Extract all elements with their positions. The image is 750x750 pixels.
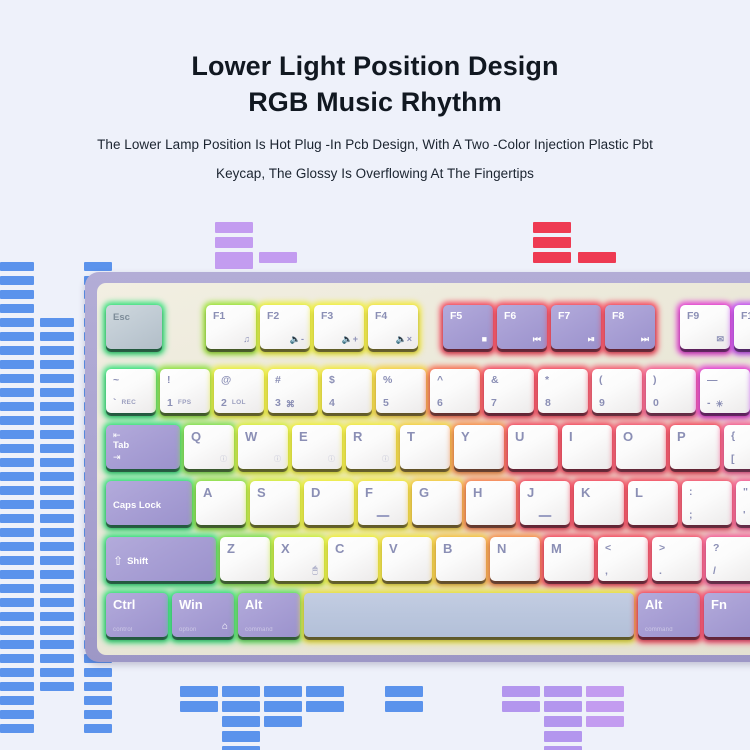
shift-arrow-icon: ⇧ xyxy=(113,554,123,568)
key-legend: Esc xyxy=(113,312,156,323)
key-glow: H xyxy=(466,481,516,525)
eq-segment xyxy=(40,472,74,481)
key-secondary-icon: ⓘ xyxy=(220,456,227,464)
eq-segment xyxy=(0,486,34,495)
eq-segment xyxy=(0,682,34,691)
key-legend-top: * xyxy=(545,374,582,386)
eq-segment xyxy=(40,626,74,635)
key-legend-bottom: 2LOL xyxy=(221,397,258,409)
key-legend: J xyxy=(527,486,564,500)
key-legend: I xyxy=(569,430,606,444)
key-legend: R xyxy=(353,430,390,444)
key-1[interactable]: !1FPS xyxy=(160,369,210,413)
key-glow: "' xyxy=(736,481,750,525)
key-legend-top: : xyxy=(689,486,726,498)
key-legend-bottom: 7 xyxy=(491,397,528,409)
key-win[interactable]: Win⌂option xyxy=(172,593,234,637)
eq-segment xyxy=(0,710,34,719)
key-legend-top: ! xyxy=(167,374,204,386)
key-glow: F4🔈× xyxy=(368,305,418,349)
key-w[interactable]: Wⓘ xyxy=(238,425,288,469)
windows-icon: ⌂ xyxy=(222,622,228,632)
key-legend: X xyxy=(281,542,318,556)
eq-segment xyxy=(40,612,74,621)
key-glow: —-☀ xyxy=(700,369,750,413)
eq-segment xyxy=(40,682,74,691)
key-legend-top: # xyxy=(275,374,312,386)
key-[interactable]: <, xyxy=(598,537,648,581)
eq-bottom-blue-2 xyxy=(222,686,260,750)
key-e[interactable]: Eⓘ xyxy=(292,425,342,469)
key-5[interactable]: %5 xyxy=(376,369,426,413)
key-glow: Qⓘ xyxy=(184,425,234,469)
eq-segment xyxy=(259,252,297,263)
eq-top-red-1 xyxy=(533,222,571,263)
key-glow: Wⓘ xyxy=(238,425,288,469)
key-glow: Altcommand xyxy=(638,593,700,637)
key-caps-lock[interactable]: Caps Lock xyxy=(106,481,192,525)
eq-segment xyxy=(40,332,74,341)
key-legend-top: ~ xyxy=(113,374,150,386)
eq-segment xyxy=(222,746,260,750)
key-legend-bottom: 0 xyxy=(653,397,690,409)
eq-segment xyxy=(40,416,74,425)
key-legend-top: F2 xyxy=(267,310,304,322)
eq-segment xyxy=(40,458,74,467)
key-glow: F9✉ xyxy=(680,305,730,349)
music-note-icon: ♫ xyxy=(213,333,250,345)
eq-segment xyxy=(0,430,34,439)
key-legend-bottom: 5 xyxy=(383,397,420,409)
subtitle-line-1: The Lower Lamp Position Is Hot Plug -In … xyxy=(0,130,750,159)
key-[interactable]: >. xyxy=(652,537,702,581)
key-sub-legend: REC xyxy=(122,397,137,409)
eq-segment xyxy=(0,276,34,285)
stop-icon: ■ xyxy=(450,333,487,345)
key-shift[interactable]: ⇧Shift xyxy=(106,537,216,581)
key-glow: %5 xyxy=(376,369,426,413)
eq-segment xyxy=(0,374,34,383)
eq-segment xyxy=(222,701,260,712)
key-legend: Q xyxy=(191,430,228,444)
key-r[interactable]: Rⓘ xyxy=(346,425,396,469)
key-legend-top: F3 xyxy=(321,310,358,322)
volume-up-icon: 🔈+ xyxy=(321,333,358,345)
subtitle-line-2: Keycap, The Glossy Is Overflowing At The… xyxy=(0,159,750,188)
key-b[interactable]: B xyxy=(436,537,486,581)
eq-segment xyxy=(0,640,34,649)
eq-segment xyxy=(0,598,34,607)
eq-top-purple-2 xyxy=(215,222,253,263)
eq-segment xyxy=(222,686,260,697)
key-alt[interactable]: Altcommand xyxy=(638,593,700,637)
key-j[interactable]: J xyxy=(520,481,570,525)
eq-segment xyxy=(180,686,218,697)
key-glow: ?/ xyxy=(706,537,750,581)
key-[interactable]: {[ xyxy=(724,425,750,469)
homing-bar xyxy=(377,515,390,517)
key-glow: Altcommand xyxy=(238,593,300,637)
page-title-line-1: Lower Light Position Design xyxy=(0,48,750,84)
subtitle: The Lower Lamp Position Is Hot Plug -In … xyxy=(0,130,750,188)
key-legend: F xyxy=(365,486,402,500)
key-glow: Esc xyxy=(106,305,162,349)
key-legend: E xyxy=(299,430,336,444)
eq-segment xyxy=(215,237,253,248)
eq-segment xyxy=(222,716,260,727)
key-n[interactable]: N xyxy=(490,537,540,581)
key-alt-legend: option xyxy=(179,627,197,633)
key-glow: F3🔈+ xyxy=(314,305,364,349)
volume-mute-icon: 🔈× xyxy=(375,333,412,345)
eq-bottom-blue-5 xyxy=(385,686,423,712)
key-legend-top: " xyxy=(743,486,750,498)
key-legend-bottom: , xyxy=(605,565,642,577)
eq-segment xyxy=(0,626,34,635)
eq-segment xyxy=(0,612,34,621)
eq-segment xyxy=(306,701,344,712)
key-ctrl[interactable]: Ctrlcontrol xyxy=(106,593,168,637)
key-legend-top: F6 xyxy=(504,310,541,322)
key-i[interactable]: I xyxy=(562,425,612,469)
key-f8[interactable]: F8⏭ xyxy=(605,305,655,349)
eq-segment xyxy=(40,374,74,383)
keyboard-row-shift-row: ⇧ShiftZX🖰CVBNM<,>.?/Shift xyxy=(106,537,750,581)
key-glow: L xyxy=(628,481,678,525)
key-fn[interactable]: Fn xyxy=(704,593,750,637)
key-7[interactable]: &7 xyxy=(484,369,534,413)
key-legend-top: ) xyxy=(653,374,690,386)
page-title-line-2: RGB Music Rhythm xyxy=(0,84,750,120)
homing-bar xyxy=(539,515,552,517)
key-legend-bottom: 3⌘ xyxy=(275,397,312,409)
key-m[interactable]: M xyxy=(544,537,594,581)
key-k[interactable]: K xyxy=(574,481,624,525)
key-h[interactable]: H xyxy=(466,481,516,525)
key-glow: (9 xyxy=(592,369,642,413)
key-c[interactable]: C xyxy=(328,537,378,581)
eq-segment xyxy=(40,584,74,593)
key-glow: D xyxy=(304,481,354,525)
key-legend-top: $ xyxy=(329,374,366,386)
key-v[interactable]: V xyxy=(382,537,432,581)
key-f7[interactable]: F7⏯ xyxy=(551,305,601,349)
key-[interactable]: ?/ xyxy=(706,537,750,581)
key-legend: T xyxy=(407,430,444,444)
key-legend-bottom: 4 xyxy=(329,397,366,409)
key-legend: Y xyxy=(461,430,498,444)
key-legend-bottom: 8 xyxy=(545,397,582,409)
key-legend-top: { xyxy=(731,430,750,442)
eq-segment xyxy=(0,290,34,299)
key-y[interactable]: Y xyxy=(454,425,504,469)
key-[interactable]: :; xyxy=(682,481,732,525)
eq-segment xyxy=(222,731,260,742)
eq-segment xyxy=(502,701,540,712)
key-glow: F1♫ xyxy=(206,305,256,349)
key-s[interactable]: S xyxy=(250,481,300,525)
key-tab[interactable]: ⇤Tab⇥ xyxy=(106,425,180,469)
key-x[interactable]: X🖰 xyxy=(274,537,324,581)
eq-top-red-2 xyxy=(578,252,616,263)
key-legend: N xyxy=(497,542,534,556)
eq-segment xyxy=(533,252,571,263)
key-4[interactable]: $4 xyxy=(322,369,372,413)
key-legend: C xyxy=(335,542,372,556)
key-glow: C xyxy=(328,537,378,581)
mouse-icon: 🖰 xyxy=(312,566,318,576)
key-legend: Ctrl xyxy=(113,598,162,612)
calculator-icon: ⌨ xyxy=(741,333,750,345)
key-[interactable]: —-☀ xyxy=(700,369,750,413)
eq-segment xyxy=(0,472,34,481)
key-q[interactable]: Qⓘ xyxy=(184,425,234,469)
key-legend: U xyxy=(515,430,552,444)
key-legend: B xyxy=(443,542,480,556)
key-glow: F6⏮ xyxy=(497,305,547,349)
tab-left-arrow-icon: ⇤ xyxy=(113,430,174,440)
key-t[interactable]: T xyxy=(400,425,450,469)
eq-segment xyxy=(84,262,112,271)
eq-segment xyxy=(0,444,34,453)
key-glow: N xyxy=(490,537,540,581)
key-9[interactable]: (9 xyxy=(592,369,642,413)
key-legend-top: F10 xyxy=(741,310,750,322)
key-glow: !1FPS xyxy=(160,369,210,413)
key-legend: Caps Lock xyxy=(113,500,186,511)
key-legend: M xyxy=(551,542,588,556)
eq-segment xyxy=(0,416,34,425)
eq-segment xyxy=(0,318,34,327)
eq-bottom-purple-1 xyxy=(502,686,540,712)
key-secondary-icon: ⓘ xyxy=(328,456,335,464)
eq-segment xyxy=(0,668,34,677)
key-glow: Win⌂option xyxy=(172,593,234,637)
key-0[interactable]: )0 xyxy=(646,369,696,413)
eq-segment xyxy=(40,444,74,453)
key-legend: P xyxy=(677,430,714,444)
eq-segment xyxy=(40,570,74,579)
key-z[interactable]: Z xyxy=(220,537,270,581)
key-glow: ~`REC xyxy=(106,369,156,413)
key-alt-legend: command xyxy=(245,627,273,633)
key-[interactable]: "' xyxy=(736,481,750,525)
key-f9[interactable]: F9✉ xyxy=(680,305,730,349)
key-glow: G xyxy=(412,481,462,525)
eq-segment xyxy=(84,682,112,691)
key-glow: F7⏯ xyxy=(551,305,601,349)
key-3[interactable]: #3⌘ xyxy=(268,369,318,413)
key-f[interactable]: F xyxy=(358,481,408,525)
key-legend-top: F9 xyxy=(687,310,724,322)
row-spacer xyxy=(422,305,439,349)
eq-segment xyxy=(40,402,74,411)
next-track-icon: ⏭ xyxy=(612,333,649,345)
eq-segment xyxy=(0,458,34,467)
key-glow: B xyxy=(436,537,486,581)
key-glow: Fn xyxy=(704,593,750,637)
key-legend: D xyxy=(311,486,348,500)
eq-segment xyxy=(180,701,218,712)
eq-segment xyxy=(0,402,34,411)
eq-bottom-purple-2 xyxy=(544,686,582,750)
key-u[interactable]: U xyxy=(508,425,558,469)
keyboard-row-number-row: ~`REC!1FPS@2LOL#3⌘$4%5^6&7*8(9)0—-☀+= xyxy=(106,369,750,413)
key-legend-bottom: `REC xyxy=(113,397,150,409)
key-alt[interactable]: Altcommand xyxy=(238,593,300,637)
eq-segment xyxy=(40,360,74,369)
key-glow: ⇧Shift xyxy=(106,537,216,581)
key-spacebar[interactable] xyxy=(304,593,634,637)
eq-segment xyxy=(586,686,624,697)
eq-segment xyxy=(0,556,34,565)
key-glow: F10⌨ xyxy=(734,305,750,349)
eq-segment xyxy=(544,746,582,750)
key-2[interactable]: @2LOL xyxy=(214,369,264,413)
row-spacer xyxy=(659,305,676,349)
eq-segment xyxy=(40,556,74,565)
eq-segment xyxy=(264,686,302,697)
eq-segment xyxy=(0,332,34,341)
key-legend: Shift xyxy=(127,556,148,567)
key-glow: V xyxy=(382,537,432,581)
key-o[interactable]: O xyxy=(616,425,666,469)
key-esc[interactable]: Esc xyxy=(106,305,162,349)
key-p[interactable]: P xyxy=(670,425,720,469)
eq-segment xyxy=(586,701,624,712)
key-legend-bottom: [ xyxy=(731,453,750,465)
eq-segment xyxy=(0,654,34,663)
key-8[interactable]: *8 xyxy=(538,369,588,413)
key-legend: L xyxy=(635,486,672,500)
eq-segment xyxy=(40,388,74,397)
key-glow: Ctrlcontrol xyxy=(106,593,168,637)
key-legend-bottom: 1FPS xyxy=(167,397,204,409)
key-legend-top: F1 xyxy=(213,310,250,322)
key-f5[interactable]: F5■ xyxy=(443,305,493,349)
key-legend-top: < xyxy=(605,542,642,554)
key-legend: W xyxy=(245,430,282,444)
key-l[interactable]: L xyxy=(628,481,678,525)
key-glow: *8 xyxy=(538,369,588,413)
key-g[interactable]: G xyxy=(412,481,462,525)
key-glow: :; xyxy=(682,481,732,525)
eq-segment xyxy=(215,222,253,233)
eq-segment xyxy=(0,514,34,523)
key-[interactable]: ~`REC xyxy=(106,369,156,413)
key-f2[interactable]: F2🔈- xyxy=(260,305,310,349)
key-f10[interactable]: F10⌨ xyxy=(734,305,750,349)
eq-segment xyxy=(40,528,74,537)
eq-segment xyxy=(502,686,540,697)
eq-bottom-blue-1 xyxy=(180,686,218,712)
key-glow xyxy=(304,593,634,637)
eq-segment xyxy=(544,701,582,712)
key-glow: A xyxy=(196,481,246,525)
key-glow: Eⓘ xyxy=(292,425,342,469)
eq-segment xyxy=(0,500,34,509)
key-glow: $4 xyxy=(322,369,372,413)
eq-segment xyxy=(586,716,624,727)
eq-left-col-1 xyxy=(0,262,34,733)
key-legend: O xyxy=(623,430,660,444)
key-glow: F5■ xyxy=(443,305,493,349)
paw-icon: ⌘ xyxy=(286,399,295,409)
eq-segment xyxy=(40,500,74,509)
key-legend: V xyxy=(389,542,426,556)
eq-segment xyxy=(0,584,34,593)
key-f6[interactable]: F6⏮ xyxy=(497,305,547,349)
key-legend-top: F4 xyxy=(375,310,412,322)
key-d[interactable]: D xyxy=(304,481,354,525)
key-legend-top: F8 xyxy=(612,310,649,322)
eq-segment xyxy=(306,686,344,697)
keyboard-row-home-row: Caps LockASDFGHJKL:;"'Enter xyxy=(106,481,750,525)
eq-segment xyxy=(40,668,74,677)
key-f3[interactable]: F3🔈+ xyxy=(314,305,364,349)
key-legend-top: ? xyxy=(713,542,750,554)
key-legend: S xyxy=(257,486,294,500)
eq-segment xyxy=(40,318,74,327)
key-f1[interactable]: F1♫ xyxy=(206,305,256,349)
eq-segment xyxy=(40,640,74,649)
eq-segment xyxy=(0,542,34,551)
key-glow: )0 xyxy=(646,369,696,413)
eq-segment xyxy=(533,222,571,233)
key-glow: X🖰 xyxy=(274,537,324,581)
eq-segment xyxy=(544,686,582,697)
eq-segment xyxy=(84,710,112,719)
key-sub-legend: LOL xyxy=(232,397,246,409)
key-6[interactable]: ^6 xyxy=(430,369,480,413)
key-glow: >. xyxy=(652,537,702,581)
key-legend-top: @ xyxy=(221,374,258,386)
eq-segment xyxy=(84,696,112,705)
eq-segment xyxy=(215,252,253,263)
eq-segment xyxy=(40,346,74,355)
key-legend-top: & xyxy=(491,374,528,386)
key-f4[interactable]: F4🔈× xyxy=(368,305,418,349)
volume-down-icon: 🔈- xyxy=(267,333,304,345)
key-legend-top: ^ xyxy=(437,374,474,386)
key-glow: Caps Lock xyxy=(106,481,192,525)
eq-bottom-purple-3 xyxy=(586,686,624,727)
key-legend-top: ( xyxy=(599,374,636,386)
eq-segment xyxy=(0,262,34,271)
key-glow: F xyxy=(358,481,408,525)
eq-segment xyxy=(385,701,423,712)
key-alt-legend: command xyxy=(645,627,673,633)
key-glow: K xyxy=(574,481,624,525)
eq-segment xyxy=(0,528,34,537)
eq-segment xyxy=(0,304,34,313)
key-legend: Tab xyxy=(113,440,174,452)
key-legend: Z xyxy=(227,542,264,556)
key-legend: H xyxy=(473,486,510,500)
eq-segment xyxy=(84,724,112,733)
key-glow: O xyxy=(616,425,666,469)
keyboard-case: EscF1♫F2🔈-F3🔈+F4🔈×F5■F6⏮F7⏯F8⏭F9✉F10⌨~`R… xyxy=(85,272,750,662)
key-glow: ^6 xyxy=(430,369,480,413)
key-a[interactable]: A xyxy=(196,481,246,525)
key-legend-top: F5 xyxy=(450,310,487,322)
key-glow: Z xyxy=(220,537,270,581)
keyboard-row-qwerty-row: ⇤Tab⇥QⓘWⓘEⓘRⓘTYUIOP{[}] xyxy=(106,425,750,469)
key-glow: T xyxy=(400,425,450,469)
key-glow: M xyxy=(544,537,594,581)
eq-bottom-blue-4 xyxy=(306,686,344,712)
keyboard-row-function-row: EscF1♫F2🔈-F3🔈+F4🔈×F5■F6⏮F7⏯F8⏭F9✉F10⌨ xyxy=(106,305,750,349)
